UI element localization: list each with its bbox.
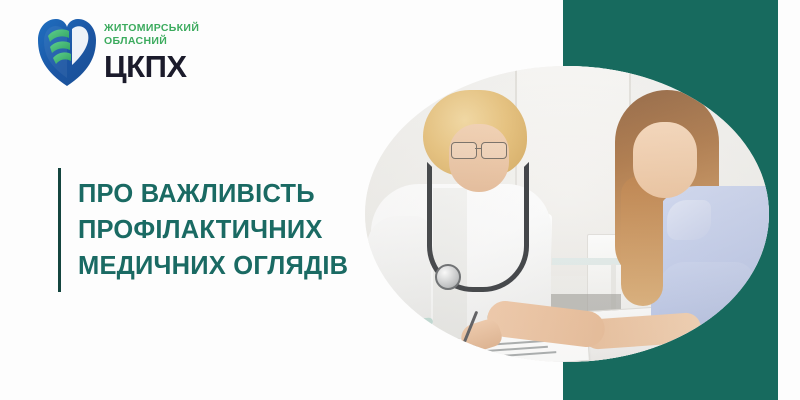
logo-wordmark: ЖИТОМИРСЬКИЙ ОБЛАСНИЙ ЦКПХ <box>104 22 234 83</box>
stethoscope-bell-icon <box>435 264 461 290</box>
glasses-icon <box>451 142 513 158</box>
organization-logo[interactable]: ЖИТОМИРСЬКИЙ ОБЛАСНИЙ ЦКПХ <box>36 16 236 94</box>
banner: ЖИТОМИРСЬКИЙ ОБЛАСНИЙ ЦКПХ ПРО ВАЖЛИВІСТ… <box>0 0 800 400</box>
photo-scene <box>365 66 769 362</box>
page-title: ПРО ВАЖЛИВІСТЬ ПРОФІЛАКТИЧНИХ МЕДИЧНИХ О… <box>61 168 348 292</box>
consultation-photo <box>365 66 769 362</box>
patient-face <box>633 122 697 198</box>
shield-heart-logo-icon <box>36 16 98 88</box>
logo-line-2: ОБЛАСНИЙ <box>104 35 234 48</box>
logo-acronym: ЦКПХ <box>104 50 234 83</box>
logo-line-1: ЖИТОМИРСЬКИЙ <box>104 22 234 35</box>
headline-block: ПРО ВАЖЛИВІСТЬ ПРОФІЛАКТИЧНИХ МЕДИЧНИХ О… <box>58 168 348 292</box>
